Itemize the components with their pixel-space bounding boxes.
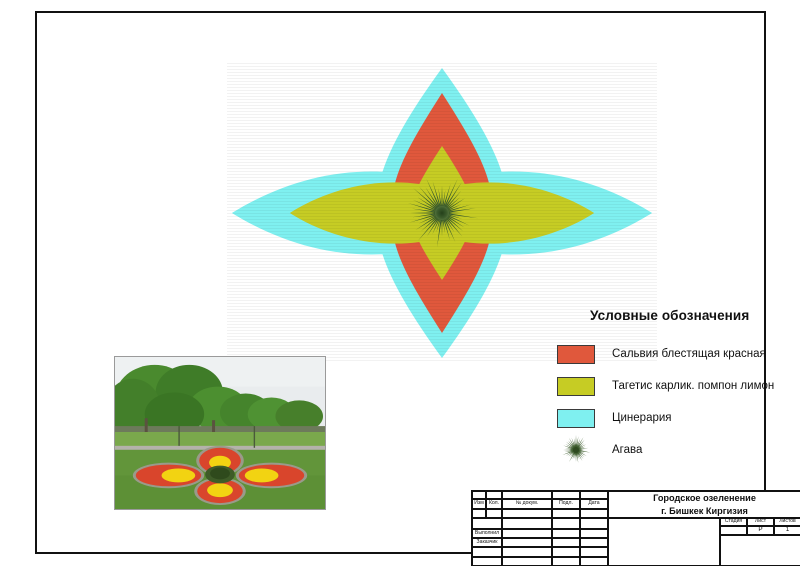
organization-area bbox=[720, 535, 800, 566]
rev-cell-r2c1 bbox=[486, 509, 502, 518]
status-value-listov: 1 bbox=[774, 526, 800, 535]
rev-header-podl: Подл. bbox=[552, 499, 580, 509]
site-photo bbox=[114, 356, 326, 510]
notes-area bbox=[608, 518, 720, 566]
legend-swatch-salvia bbox=[557, 345, 595, 364]
project-title: Городское озеленение г. Бишкек Киргизия bbox=[608, 491, 800, 518]
role-cell-vypolnil-data bbox=[580, 529, 608, 538]
role-cell-vypolnil-podl bbox=[552, 529, 580, 538]
rev-cell-r0c2 bbox=[502, 491, 552, 499]
legend-label-salvia: Сальвия блестящая красная bbox=[612, 348, 766, 360]
rev-cell-r0c3 bbox=[552, 491, 580, 499]
role-cell-vypolnil-dokum bbox=[502, 529, 552, 538]
rev-cell-r3c2 bbox=[502, 518, 552, 529]
rev-header-kol: Кол. bbox=[486, 499, 502, 509]
rev-header-izm: Изм bbox=[472, 499, 486, 509]
project-title-line1: Городское озеленение bbox=[653, 492, 756, 504]
rev-cell-r7c2 bbox=[502, 557, 552, 566]
rev-cell-r0c1 bbox=[486, 491, 502, 499]
status-value-stadia bbox=[720, 526, 747, 535]
role-cell-zakazchik-dokum bbox=[502, 538, 552, 547]
role-cell-zakazchik-podl bbox=[552, 538, 580, 547]
legend-item-agave: Агава bbox=[557, 435, 797, 465]
agave-star-icon bbox=[557, 435, 595, 465]
rev-cell-r7c4 bbox=[580, 557, 608, 566]
legend-swatch-cineraria bbox=[557, 409, 595, 428]
rev-cell-r6c0 bbox=[472, 547, 502, 557]
rev-header-dokum: № докум. bbox=[502, 499, 552, 509]
rev-header-data: Дата bbox=[580, 499, 608, 509]
legend-label-cineraria: Цинерария bbox=[612, 412, 672, 424]
rev-cell-r7c0 bbox=[472, 557, 502, 566]
role-row-vypolnil: Выполнил bbox=[472, 529, 502, 538]
legend-title: Условные обозначения bbox=[590, 308, 797, 323]
status-header-listov: Листов bbox=[774, 518, 800, 526]
title-block: Изм Кол. № докум. Подл. Дата Выполнил За… bbox=[471, 490, 800, 566]
rev-cell-r2c0 bbox=[472, 509, 486, 518]
status-header-list: Лист bbox=[747, 518, 774, 526]
rev-cell-r0c4 bbox=[580, 491, 608, 499]
rev-cell-r3c0 bbox=[472, 518, 502, 529]
rev-cell-r6c2 bbox=[502, 547, 552, 557]
rev-cell-r3c4 bbox=[580, 518, 608, 529]
project-title-line2: г. Бишкек Киргизия bbox=[661, 505, 748, 517]
rev-cell-r6c3 bbox=[552, 547, 580, 557]
rev-cell-r0c0 bbox=[472, 491, 486, 499]
rev-cell-r2c2 bbox=[502, 509, 552, 518]
drawing-sheet-frame: Условные обозначения Сальвия блестящая к… bbox=[35, 11, 766, 554]
rev-cell-r2c4 bbox=[580, 509, 608, 518]
status-header-stadia: Стадия bbox=[720, 518, 747, 526]
role-cell-zakazchik-data bbox=[580, 538, 608, 547]
status-value-list: Р bbox=[747, 526, 774, 535]
rev-cell-r7c3 bbox=[552, 557, 580, 566]
legend: Условные обозначения Сальвия блестящая к… bbox=[557, 308, 797, 467]
role-row-zakazchik: Заказчик bbox=[472, 538, 502, 547]
legend-label-tagetes: Тагетис карлик. помпон лимон bbox=[612, 380, 774, 392]
legend-item-salvia: Сальвия блестящая красная bbox=[557, 339, 797, 369]
legend-label-agave: Агава bbox=[612, 444, 642, 456]
legend-item-cineraria: Цинерария bbox=[557, 403, 797, 433]
legend-swatch-tagetes bbox=[557, 377, 595, 396]
rev-cell-r6c4 bbox=[580, 547, 608, 557]
rev-cell-r3c3 bbox=[552, 518, 580, 529]
rev-cell-r2c3 bbox=[552, 509, 580, 518]
legend-item-tagetes: Тагетис карлик. помпон лимон bbox=[557, 371, 797, 401]
